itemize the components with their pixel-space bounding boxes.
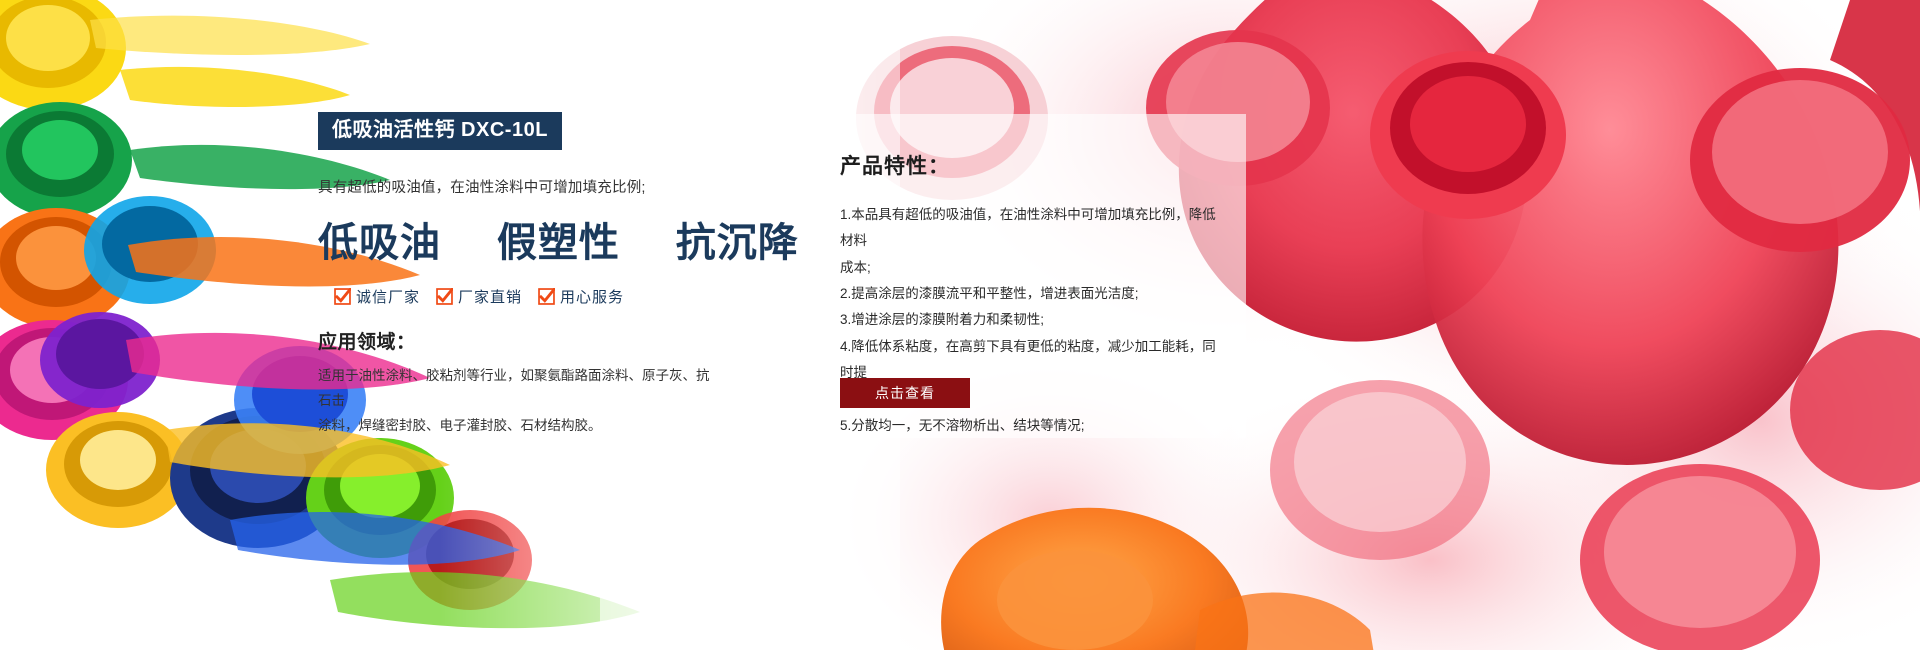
trust-badge-2[interactable]: 厂家直销 bbox=[436, 286, 522, 307]
product-title-badge: 低吸油活性钙 DXC-10L bbox=[318, 112, 562, 150]
application-description: 适用于油性涂料、胶粘剂等行业，如聚氨酯路面涂料、原子灰、抗石击 涂料，焊缝密封胶… bbox=[318, 364, 718, 439]
checkbox-checked-icon bbox=[436, 288, 453, 305]
checkbox-checked-icon bbox=[334, 288, 351, 305]
trust-badge-label: 诚信厂家 bbox=[356, 286, 420, 307]
headline-word-2: 假塑性 bbox=[497, 219, 620, 266]
application-line-1: 适用于油性涂料、胶粘剂等行业，如聚氨酯路面涂料、原子灰、抗石击 bbox=[318, 364, 718, 414]
product-info-column: 低吸油活性钙 DXC-10L 具有超低的吸油值，在油性涂料中可增加填充比例; 低… bbox=[318, 112, 738, 439]
trust-badge-3[interactable]: 用心服务 bbox=[538, 286, 624, 307]
product-subtitle: 具有超低的吸油值，在油性涂料中可增加填充比例; bbox=[318, 176, 738, 197]
trust-badge-1[interactable]: 诚信厂家 bbox=[334, 286, 420, 307]
trust-badge-row: 诚信厂家 厂家直销 用心服务 bbox=[334, 286, 738, 307]
product-features-panel: 产品特性： 1.本品具有超低的吸油值，在油性涂料中可增加填充比例，降低材料 成本… bbox=[806, 114, 1246, 438]
headline-word-1: 低吸油 bbox=[318, 219, 441, 266]
trust-badge-label: 厂家直销 bbox=[458, 286, 522, 307]
feature-line: 成本; bbox=[840, 255, 1220, 281]
trust-badge-label: 用心服务 bbox=[560, 286, 624, 307]
checkbox-checked-icon bbox=[538, 288, 555, 305]
headline-word-3: 抗沉降 bbox=[676, 219, 799, 266]
view-details-button[interactable]: 点击查看 bbox=[840, 378, 970, 408]
application-line-2: 涂料，焊缝密封胶、电子灌封胶、石材结构胶。 bbox=[318, 414, 718, 439]
product-headline: 低吸油 假塑性 抗沉降 bbox=[318, 210, 738, 268]
feature-line: 1.本品具有超低的吸油值，在油性涂料中可增加填充比例，降低材料 bbox=[840, 202, 1220, 255]
features-heading: 产品特性： bbox=[840, 150, 1216, 180]
feature-line: 2.提高涂层的漆膜流平和平整性，增进表面光洁度; bbox=[840, 281, 1220, 307]
feature-line: 5.分散均一，无不溶物析出、结块等情况; bbox=[840, 413, 1220, 439]
application-heading: 应用领域： bbox=[318, 327, 738, 354]
feature-line: 3.增进涂层的漆膜附着力和柔韧性; bbox=[840, 307, 1220, 333]
promo-banner: 低吸油活性钙 DXC-10L 具有超低的吸油值，在油性涂料中可增加填充比例; 低… bbox=[0, 0, 1920, 650]
